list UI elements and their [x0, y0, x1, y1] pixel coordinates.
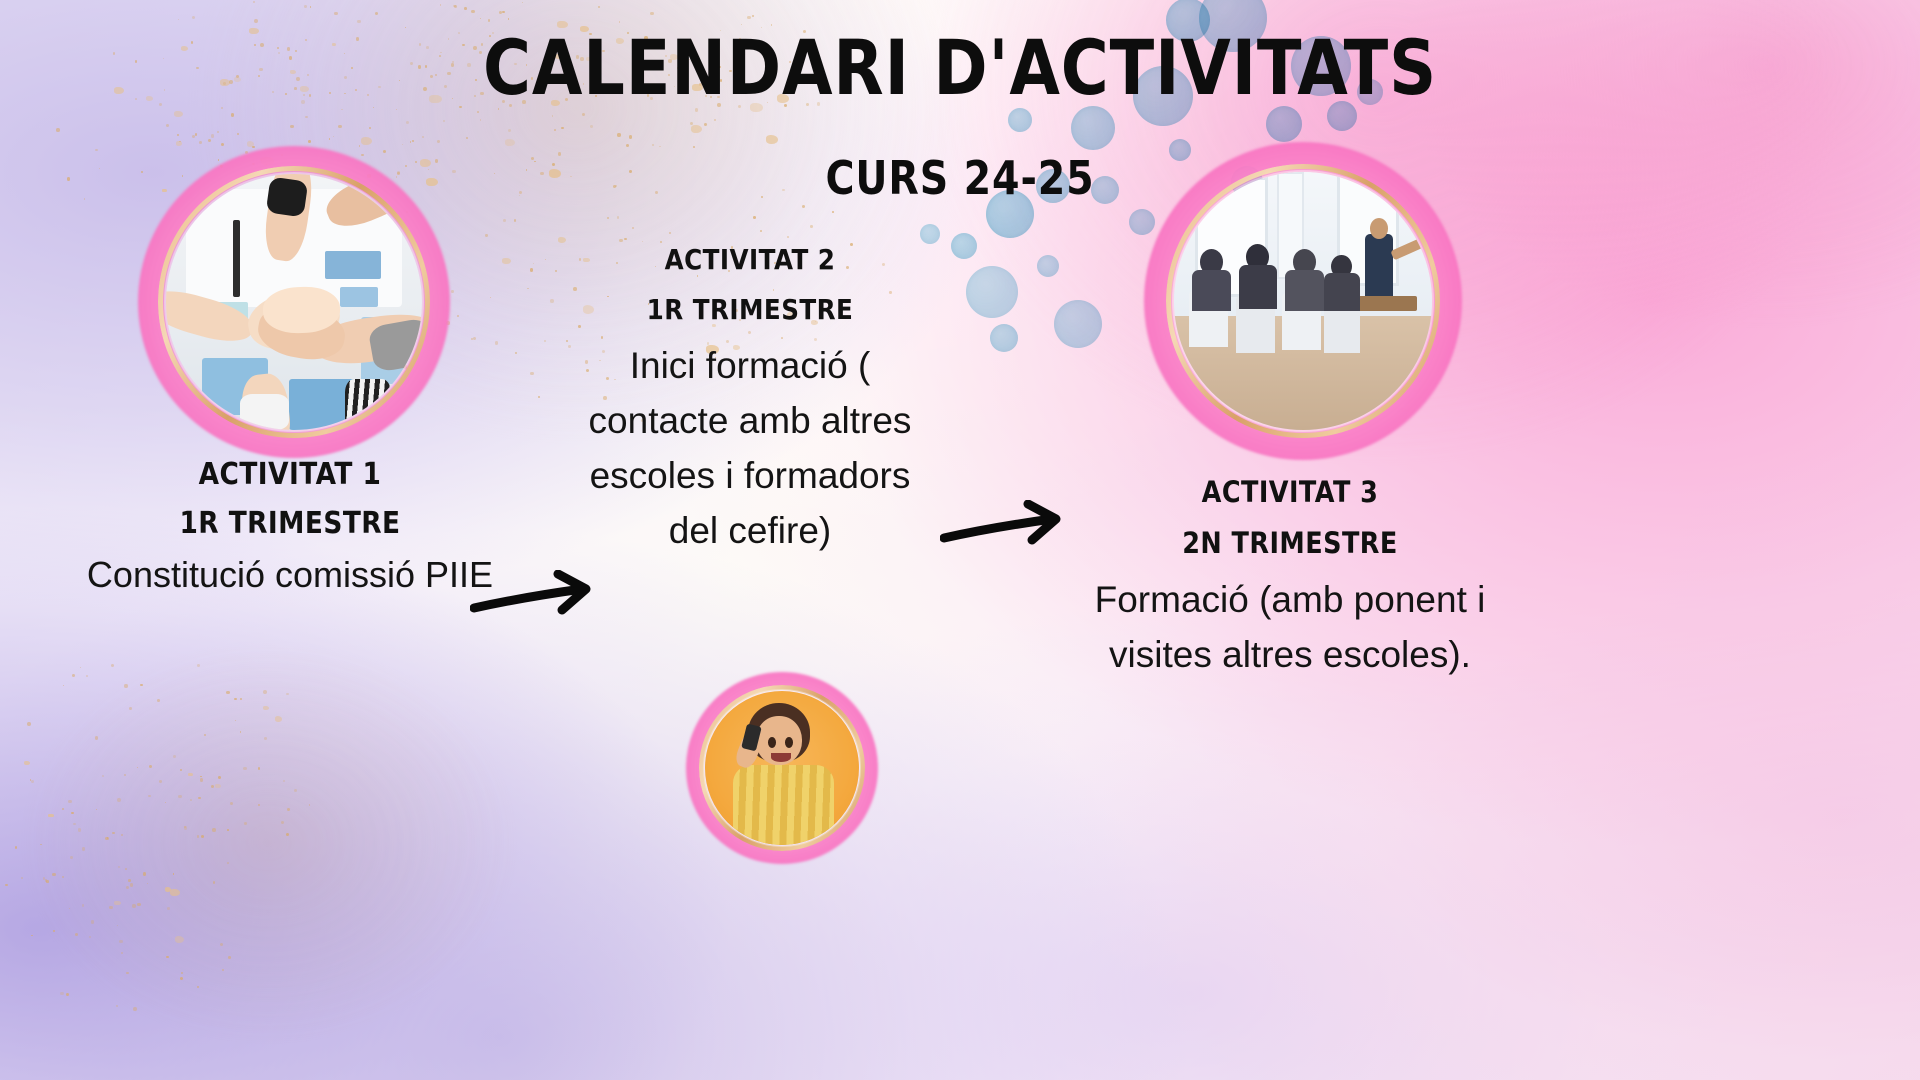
activitat-2-heading: ACTIVITAT 2 — [596, 238, 904, 282]
classroom-training-photo — [1174, 172, 1432, 430]
activitat-1-description: Constitució comissió PIIE — [60, 550, 520, 600]
woman-on-phone-photo — [705, 691, 859, 845]
page-subtitle: CURS 24-25 — [134, 152, 1785, 204]
activitat-2-image-frame — [686, 672, 878, 864]
teamwork-hands-photo — [166, 174, 422, 430]
activitat-1-block: ACTIVITAT 1 1R TRIMESTRE Constitució com… — [60, 452, 520, 600]
activitat-1-term: 1R TRIMESTRE — [88, 498, 493, 550]
activitat-2-block: ACTIVITAT 2 1R TRIMESTRE Inici formació … — [575, 238, 925, 558]
poster-canvas: CALENDARI D'ACTIVITATS CURS 24-25 ACTIVI… — [0, 0, 1920, 1080]
arrow-right-icon — [940, 500, 1070, 560]
activitat-3-description: Formació (amb ponent i visites altres es… — [1040, 572, 1540, 682]
activitat-2-term: 1R TRIMESTRE — [596, 282, 904, 338]
activitat-2-description: Inici formació ( contacte amb altres esc… — [575, 338, 925, 558]
activitat-1-heading: ACTIVITAT 1 — [88, 452, 493, 498]
page-title: CALENDARI D'ACTIVITATS — [134, 26, 1785, 110]
activitat-3-heading: ACTIVITAT 3 — [1070, 470, 1510, 514]
activitat-3-term: 2N TRIMESTRE — [1070, 514, 1510, 572]
arrow-right-icon — [470, 570, 600, 630]
activitat-3-block: ACTIVITAT 3 2N TRIMESTRE Formació (amb p… — [1040, 470, 1540, 682]
